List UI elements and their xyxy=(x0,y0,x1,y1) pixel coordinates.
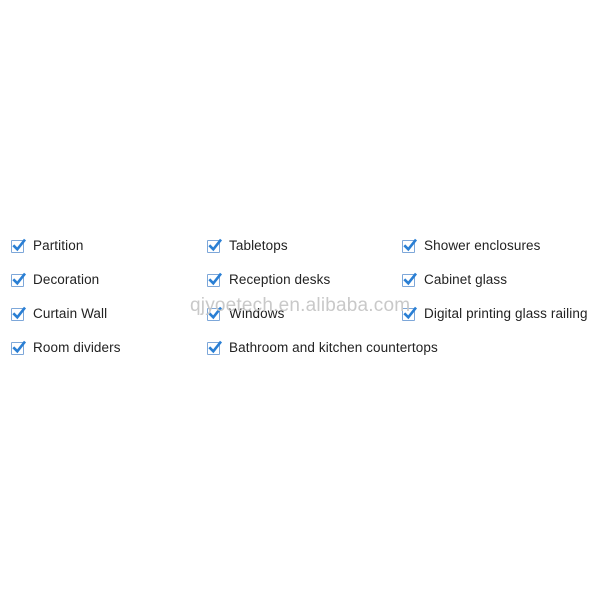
checkbox-checked-icon[interactable] xyxy=(11,308,24,321)
checklist-row: Partition Tabletops Shower enclosures xyxy=(0,236,600,270)
checklist-item-tabletops[interactable]: Tabletops xyxy=(207,236,288,256)
checklist-row: Room dividers Bathroom and kitchen count… xyxy=(0,338,600,372)
application-checklist: Partition Tabletops Shower enclosures xyxy=(0,236,600,372)
checklist-item-label: Curtain Wall xyxy=(33,306,107,322)
checkbox-checked-icon[interactable] xyxy=(11,274,24,287)
checklist-item-digital-printing-glass-railing[interactable]: Digital printing glass railing xyxy=(402,304,588,324)
checkbox-checked-icon[interactable] xyxy=(207,240,220,253)
checklist-item-curtain-wall[interactable]: Curtain Wall xyxy=(11,304,107,324)
checklist-item-label: Digital printing glass railing xyxy=(424,306,588,322)
checklist-item-room-dividers[interactable]: Room dividers xyxy=(11,338,121,358)
checklist-item-label: Reception desks xyxy=(229,272,330,288)
checklist-item-decoration[interactable]: Decoration xyxy=(11,270,99,290)
checklist-item-label: Windows xyxy=(229,306,284,322)
checklist-item-label: Cabinet glass xyxy=(424,272,507,288)
checklist-row: Curtain Wall Windows Digital printing gl… xyxy=(0,304,600,338)
checklist-item-label: Shower enclosures xyxy=(424,238,541,254)
checkbox-checked-icon[interactable] xyxy=(402,274,415,287)
checklist-item-reception-desks[interactable]: Reception desks xyxy=(207,270,330,290)
checklist-item-windows[interactable]: Windows xyxy=(207,304,284,324)
application-list-page: Partition Tabletops Shower enclosures xyxy=(0,0,600,600)
checklist-item-cabinet-glass[interactable]: Cabinet glass xyxy=(402,270,507,290)
checkbox-checked-icon[interactable] xyxy=(207,308,220,321)
checklist-item-shower-enclosures[interactable]: Shower enclosures xyxy=(402,236,541,256)
checklist-item-label: Partition xyxy=(33,238,83,254)
checkbox-checked-icon[interactable] xyxy=(402,308,415,321)
checkbox-checked-icon[interactable] xyxy=(11,240,24,253)
checklist-item-label: Tabletops xyxy=(229,238,288,254)
checklist-item-bathroom-and-kitchen-countertops[interactable]: Bathroom and kitchen countertops xyxy=(207,338,438,358)
checklist-item-partition[interactable]: Partition xyxy=(11,236,83,256)
checkbox-checked-icon[interactable] xyxy=(402,240,415,253)
checklist-item-label: Decoration xyxy=(33,272,99,288)
checkbox-checked-icon[interactable] xyxy=(207,274,220,287)
checklist-item-label: Bathroom and kitchen countertops xyxy=(229,340,438,356)
checkbox-checked-icon[interactable] xyxy=(11,342,24,355)
checkbox-checked-icon[interactable] xyxy=(207,342,220,355)
checklist-item-label: Room dividers xyxy=(33,340,121,356)
checklist-row: Decoration Reception desks Cabinet glass xyxy=(0,270,600,304)
